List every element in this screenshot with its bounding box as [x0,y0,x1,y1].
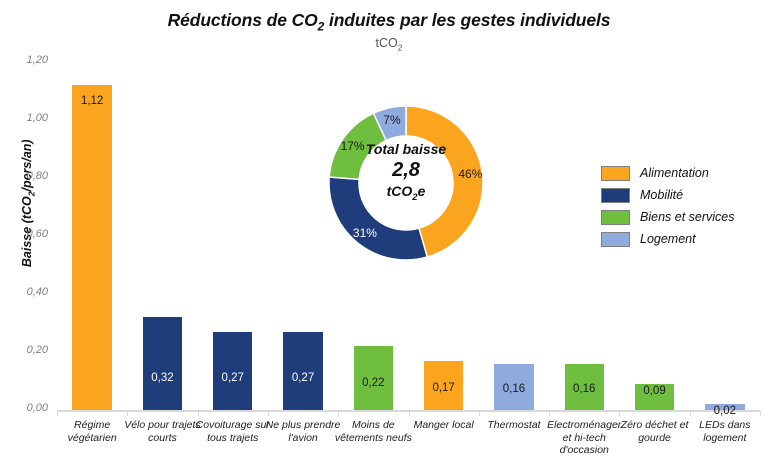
bar-value-label: 0,22 [354,377,393,389]
x-axis-tick-mark [198,411,199,416]
y-axis-tick-label: 0,40 [8,286,48,298]
chart-title: Réductions de CO2 induites par les geste… [0,10,778,34]
bar[interactable]: 0,16 [565,364,604,410]
x-axis-tick-mark [479,411,480,416]
legend-item-label: Mobilité [640,188,683,202]
chart-subtitle-before: tCO [376,36,398,50]
chart-subtitle-subscript: 2 [398,43,403,53]
x-axis-category-label: Thermostat [475,419,553,432]
x-axis-tick-mark [549,411,550,416]
bar[interactable]: 0,27 [213,332,252,410]
bar[interactable]: 0,09 [635,384,674,410]
donut-slice-label: 7% [383,113,400,127]
bar-value-label: 0,16 [494,383,533,395]
donut-chart [327,104,485,262]
bar[interactable]: 0,32 [143,317,182,410]
legend-color-swatch [601,210,630,225]
y-axis-title: Baisse (tCO2/pers/an) [20,93,37,313]
donut-slice-label: 31% [353,226,377,240]
x-axis-tick-mark [338,411,339,416]
bar[interactable]: 0,02 [705,404,744,410]
x-axis-category-label: Covoiturage surtous trajets [194,419,272,444]
x-axis-tick-mark [268,411,269,416]
legend-item-label: Alimentation [640,166,709,180]
legend-color-swatch [601,188,630,203]
bar-value-label: 0,27 [283,372,322,384]
y-axis-title-after: /pers/an) [20,139,34,191]
x-axis-category-label: Régimevégétarien [53,419,131,444]
legend-color-swatch [601,232,630,247]
legend-item[interactable]: Biens et services [601,207,734,227]
bar-value-label: 0,02 [685,405,764,417]
legend-item[interactable]: Logement [601,229,734,249]
donut-slice[interactable] [329,177,427,260]
x-axis-category-label: Ne plus prendrel'avion [264,419,342,444]
legend-item-label: Logement [640,232,696,246]
x-axis-category-label: Manger local [405,419,483,432]
bar-value-label: 0,09 [615,385,694,397]
legend-color-swatch [601,166,630,181]
y-axis-tick-label: 0,00 [8,402,48,414]
x-axis-category-label: Vélo pour trajetscourts [123,419,201,444]
donut-slice-label: 17% [341,139,365,153]
bar-value-label: 0,27 [213,372,252,384]
y-axis-tick-label: 1,00 [8,112,48,124]
bar-value-label: 0,32 [143,372,182,384]
x-axis-category-label: Moins devêtements neufs [334,419,412,444]
x-axis-category-label: Zéro déchet etgourde [615,419,693,444]
bar-value-label: 0,17 [424,382,463,394]
x-axis-category-label: LEDs danslogement [686,419,764,444]
bar[interactable]: 0,22 [354,346,393,410]
bar[interactable]: 0,17 [424,361,463,410]
y-axis-tick-label: 0,60 [8,228,48,240]
bar[interactable]: 0,27 [283,332,322,410]
chart-container: Réductions de CO2 induites par les geste… [0,0,778,455]
legend-item[interactable]: Mobilité [601,185,734,205]
y-axis-tick-label: 0,80 [8,170,48,182]
donut-slice-label: 46% [458,167,482,181]
x-axis-tick-mark [127,411,128,416]
legend-item[interactable]: Alimentation [601,163,734,183]
bar-value-label: 0,16 [565,383,604,395]
chart-subtitle: tCO2 [0,36,778,53]
x-axis-tick-mark [409,411,410,416]
legend: AlimentationMobilitéBiens et servicesLog… [601,163,734,251]
y-axis-title-subscript: 2 [26,192,36,197]
x-axis-category-label: Electroménageret hi-techd'occasion [545,419,623,455]
chart-title-before: Réductions de CO [168,10,318,30]
x-axis-tick-mark [619,411,620,416]
bar-value-label: 1,12 [72,95,111,107]
chart-title-after: induites par les gestes individuels [324,10,610,30]
bar[interactable]: 0,16 [494,364,533,410]
legend-item-label: Biens et services [640,210,734,224]
y-axis-tick-label: 0,20 [8,344,48,356]
y-axis-tick-label: 1,20 [8,54,48,66]
donut-svg [327,104,485,262]
bar[interactable]: 1,12 [72,85,111,410]
x-axis-tick-mark [57,411,58,416]
